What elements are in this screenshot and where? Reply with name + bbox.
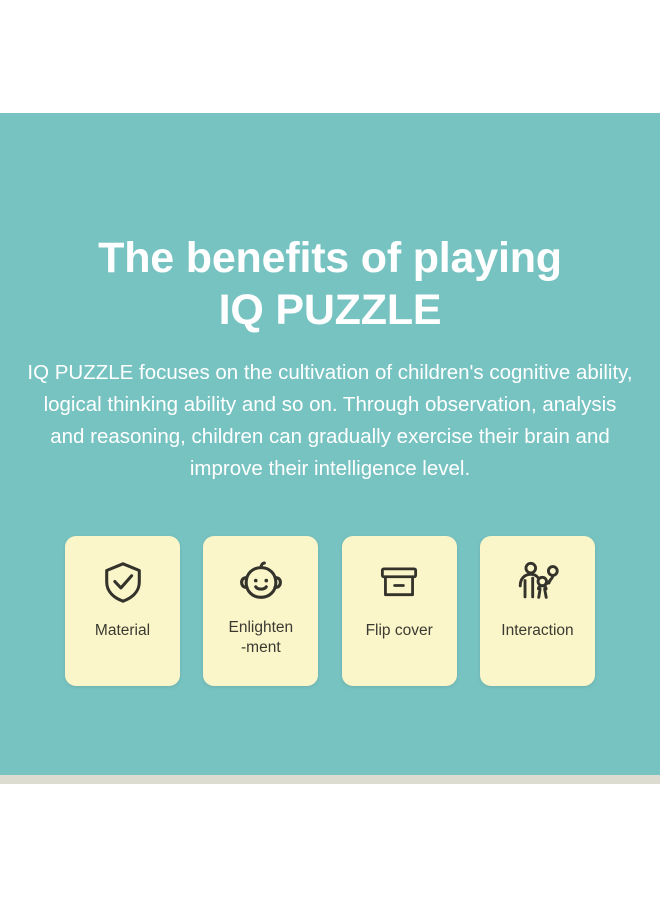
- feature-card-label-line-1: Interaction: [501, 622, 573, 639]
- feature-card-row: Material Enlighten -ment: [65, 536, 595, 686]
- feature-card-enlightenment[interactable]: Enlighten -ment: [203, 536, 318, 686]
- page-title-line-2: IQ PUZZLE: [0, 284, 660, 336]
- feature-card-label-line-1: Flip cover: [366, 622, 433, 639]
- feature-card-label: Enlighten -ment: [203, 618, 318, 658]
- feature-card-label: Flip cover: [342, 621, 457, 641]
- feature-card-label: Material: [65, 621, 180, 641]
- feature-card-label-line-2: -ment: [207, 638, 314, 658]
- adult-child-balloon-icon: [510, 555, 564, 609]
- page-title: The benefits of playing IQ PUZZLE: [0, 232, 660, 336]
- page-title-line-1: The benefits of playing: [0, 232, 660, 284]
- feature-card-label-line-1: Material: [95, 622, 150, 639]
- feature-card-flip-cover[interactable]: Flip cover: [342, 536, 457, 686]
- panel-footer-strip: [0, 775, 660, 784]
- baby-face-icon: [234, 555, 288, 609]
- hero-description: IQ PUZZLE focuses on the cultivation of …: [26, 357, 634, 485]
- feature-card-interaction[interactable]: Interaction: [480, 536, 595, 686]
- product-infographic-canvas: The benefits of playing IQ PUZZLE IQ PUZ…: [0, 0, 660, 900]
- shield-check-icon: [96, 555, 150, 609]
- feature-card-material[interactable]: Material: [65, 536, 180, 686]
- feature-card-label: Interaction: [480, 621, 595, 641]
- feature-card-label-line-1: Enlighten: [229, 619, 294, 636]
- archive-box-icon: [372, 555, 426, 609]
